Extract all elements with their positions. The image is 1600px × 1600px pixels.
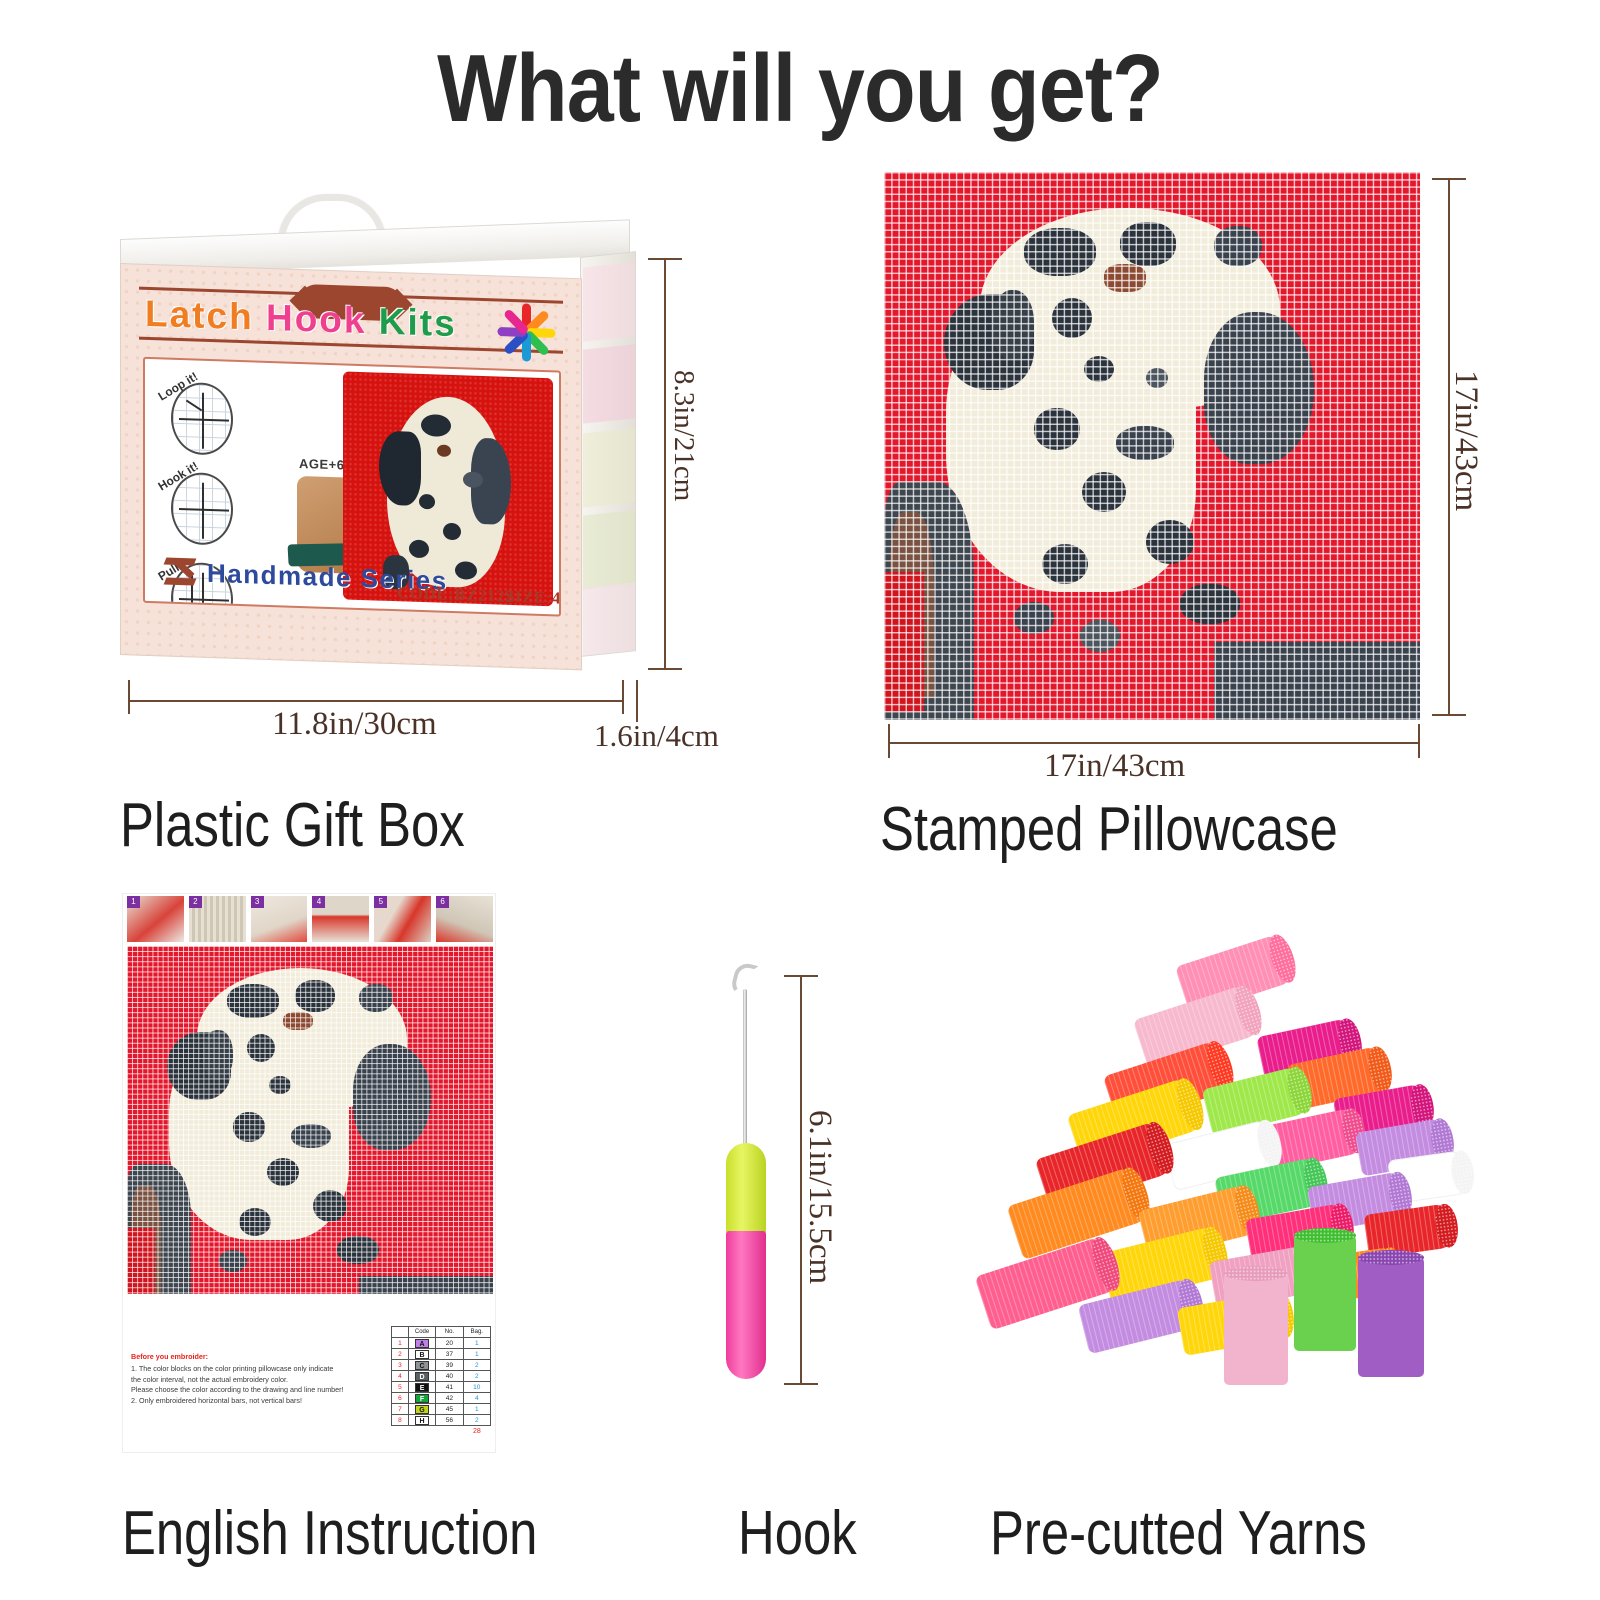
precut-yarns-image (960, 935, 1460, 1425)
hook-length-tick-bottom (784, 1383, 818, 1385)
row-count: 42 (436, 1393, 463, 1404)
gift-box-image: Latch Hook Kits Loop it! (110, 195, 650, 675)
yarn-peek (583, 344, 635, 423)
row-index: 8 (392, 1415, 409, 1426)
row-count: 39 (436, 1360, 463, 1371)
step-photo: 5 (374, 896, 431, 942)
step-number-badge: 5 (374, 896, 387, 908)
step-number-badge: 3 (251, 896, 264, 908)
step-photo: 3 (251, 896, 308, 942)
row-count: 40 (436, 1371, 463, 1382)
table-header-code: Code (408, 1327, 435, 1338)
row-bag: 1 (463, 1349, 490, 1360)
pillow-height-tick-bottom (1432, 714, 1466, 716)
color-swatch: A (415, 1339, 429, 1348)
hook-length-tick-top (784, 975, 818, 977)
row-code-cell: H (408, 1415, 435, 1426)
row-count: 20 (436, 1338, 463, 1349)
yarn-bundle-standing (1358, 1257, 1424, 1377)
before-you-embroider-note: Before you embroider: 1. The color block… (131, 1352, 381, 1407)
pillowcase-caption: Stamped Pillowcase (880, 794, 1338, 865)
before-note-title: Before you embroider: (131, 1352, 381, 1363)
step-photo: 1 (127, 896, 184, 942)
yarn-peek (583, 582, 635, 657)
box-depth-dimension-line (636, 680, 638, 722)
box-height-tick-bottom (648, 668, 682, 670)
row-code-cell: A (408, 1338, 435, 1349)
row-bag: 2 (463, 1360, 490, 1371)
box-width-dimension-line (128, 700, 624, 702)
instruction-step-photos: 1 2 3 4 5 6 (127, 896, 493, 942)
yarns-caption: Pre-cutted Yarns (990, 1498, 1367, 1569)
step-number-badge: 4 (312, 896, 325, 908)
yarn-bundle-standing (1294, 1235, 1356, 1351)
row-count: 37 (436, 1349, 463, 1360)
box-width-dimension-label: 11.8in/30cm (272, 706, 437, 743)
brand-word-kits: Kits (379, 301, 457, 345)
row-index: 2 (392, 1349, 409, 1360)
color-swatch: C (415, 1361, 429, 1370)
table-header-row: Code No. Bag. (392, 1327, 491, 1338)
hook-handle-upper (726, 1143, 766, 1235)
row-bag: 10 (463, 1382, 490, 1393)
box-width-tick-right (622, 680, 624, 714)
pillow-height-tick-top (1432, 178, 1466, 180)
product-code-label: CODE:BZ2122 (397, 583, 514, 607)
pinwheel-logo-icon (493, 298, 559, 366)
before-note-line-4: 2. Only embroidered horizontal bars, not… (131, 1396, 302, 1405)
box-side-face (580, 251, 636, 657)
instruction-caption: English Instruction (122, 1498, 537, 1569)
color-swatch: E (415, 1383, 429, 1392)
pillow-height-dimension-label: 17in/43cm (1447, 370, 1484, 511)
step-number-badge: 1 (127, 896, 140, 908)
step-number-badge: 6 (436, 896, 449, 908)
table-row: 4D402 (392, 1371, 491, 1382)
box-height-dimension-label: 8.3in/21cm (667, 370, 700, 501)
row-code-cell: G (408, 1404, 435, 1415)
color-table-total: 28 (473, 1428, 493, 1435)
table-row: 6F424 (392, 1393, 491, 1404)
row-code-cell: E (408, 1382, 435, 1393)
row-bag: 1 (463, 1338, 490, 1349)
row-count: 41 (436, 1382, 463, 1393)
row-code-cell: D (408, 1371, 435, 1382)
brand-word-hook: Hook (266, 297, 367, 341)
color-swatch: D (415, 1372, 429, 1381)
row-index: 1 (392, 1338, 409, 1349)
color-swatch: H (415, 1416, 429, 1425)
row-index: 6 (392, 1393, 409, 1404)
row-index: 4 (392, 1371, 409, 1382)
step-photo: 6 (436, 896, 493, 942)
before-note-line-3: Please choose the color according to the… (131, 1385, 344, 1394)
box-height-tick-top (648, 258, 682, 260)
table-header-no: No. (436, 1327, 463, 1338)
row-index: 3 (392, 1360, 409, 1371)
row-bag: 4 (463, 1393, 490, 1404)
gift-box-caption: Plastic Gift Box (120, 790, 465, 861)
color-swatch: F (415, 1394, 429, 1403)
brand-word-latch: Latch (145, 293, 254, 338)
hook-tool-image (700, 955, 880, 1425)
row-code-cell: F (408, 1393, 435, 1404)
handmade-logo-icon (163, 555, 205, 592)
hook-caption: Hook (738, 1498, 857, 1569)
english-instruction-image: 1 2 3 4 5 6 (122, 893, 496, 1453)
box-front-face: Latch Hook Kits Loop it! (120, 263, 582, 670)
row-bag: 2 (463, 1415, 490, 1426)
yarn-peek (583, 262, 635, 341)
yarn-peek (583, 428, 635, 507)
color-swatch: G (415, 1405, 429, 1414)
hook-length-dimension-label: 6.1in/15.5cm (801, 1110, 838, 1284)
before-note-line-2: the color interval, not the actual embro… (131, 1375, 288, 1384)
page-title: What will you get? (96, 34, 1504, 144)
stamped-pillowcase-image (884, 172, 1420, 720)
row-bag: 1 (463, 1404, 490, 1415)
table-header-index (392, 1327, 409, 1338)
yarn-bundle-standing (1224, 1273, 1288, 1385)
yarn-peek (583, 510, 635, 589)
before-note-line-1: 1. The color blocks on the color printin… (131, 1364, 333, 1373)
product-size-label: SIZE:43X43CM (505, 587, 561, 611)
instruction-chart-canvas (127, 946, 493, 1294)
row-index: 7 (392, 1404, 409, 1415)
color-code-table: Code No. Bag. 1A201 2B371 3C392 4D402 5E… (391, 1326, 491, 1426)
table-row: 3C392 (392, 1360, 491, 1371)
row-code-cell: B (408, 1349, 435, 1360)
pillow-width-dimension-line (888, 742, 1420, 744)
color-swatch: B (415, 1350, 429, 1359)
box-height-dimension-line (664, 258, 666, 670)
box-instruction-panel: Loop it! Hook it! Pull! AGE+6 ! (143, 357, 561, 617)
pillow-width-dimension-label: 17in/43cm (1044, 748, 1185, 785)
hook-handle-lower (726, 1231, 766, 1379)
box-width-tick-left (128, 680, 130, 714)
row-code-cell: C (408, 1360, 435, 1371)
table-row: 1A201 (392, 1338, 491, 1349)
box-depth-dimension-label: 1.6in/4cm (594, 718, 719, 754)
row-count: 45 (436, 1404, 463, 1415)
table-row: 7G451 (392, 1404, 491, 1415)
pillow-width-tick-left (888, 724, 890, 758)
step-photo: 2 (189, 896, 246, 942)
table-row: 2B371 (392, 1349, 491, 1360)
table-row: 5E4110 (392, 1382, 491, 1393)
pillowcase-canvas (884, 172, 1420, 720)
table-header-bag: Bag. (463, 1327, 490, 1338)
table-row: 8H562 (392, 1415, 491, 1426)
row-index: 5 (392, 1382, 409, 1393)
step-photo: 4 (312, 896, 369, 942)
row-bag: 2 (463, 1371, 490, 1382)
pillow-width-tick-right (1418, 724, 1420, 758)
row-count: 56 (436, 1415, 463, 1426)
step-number-badge: 2 (189, 896, 202, 908)
hook-needle-shaft (743, 989, 747, 1149)
